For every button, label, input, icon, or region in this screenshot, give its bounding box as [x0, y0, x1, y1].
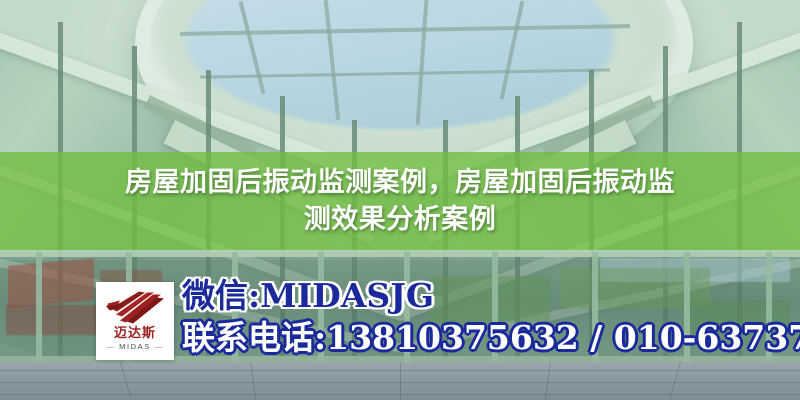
logo-name-en: — MIDAS —: [106, 343, 163, 351]
title-banner: 房屋加固后振动监测案例，房屋加固后振动监 测效果分析案例: [0, 152, 800, 250]
midas-logo: 迈达斯 — MIDAS —: [96, 282, 174, 360]
midas-wing-mark-icon: [105, 291, 165, 325]
logo-name-cn: 迈达斯: [114, 327, 156, 340]
watermark-overlay: 迈达斯 — MIDAS — 微信:MIDASJG 联系电话:1381037563…: [0, 272, 800, 377]
wechat-line: 微信:MIDASJG: [182, 276, 800, 316]
transom-beam: [0, 250, 800, 257]
contact-info: 微信:MIDASJG 联系电话:13810375632 / 010-637374…: [182, 276, 800, 359]
title-line-2: 测效果分析案例: [20, 201, 780, 238]
promo-banner-image: 房屋加固后振动监测案例，房屋加固后振动监 测效果分析案例 迈达斯 — MIDAS…: [0, 0, 800, 400]
phone-line: 联系电话:13810375632 / 010-63737472: [182, 318, 800, 358]
title-line-1: 房屋加固后振动监测案例，房屋加固后振动监: [20, 164, 780, 201]
